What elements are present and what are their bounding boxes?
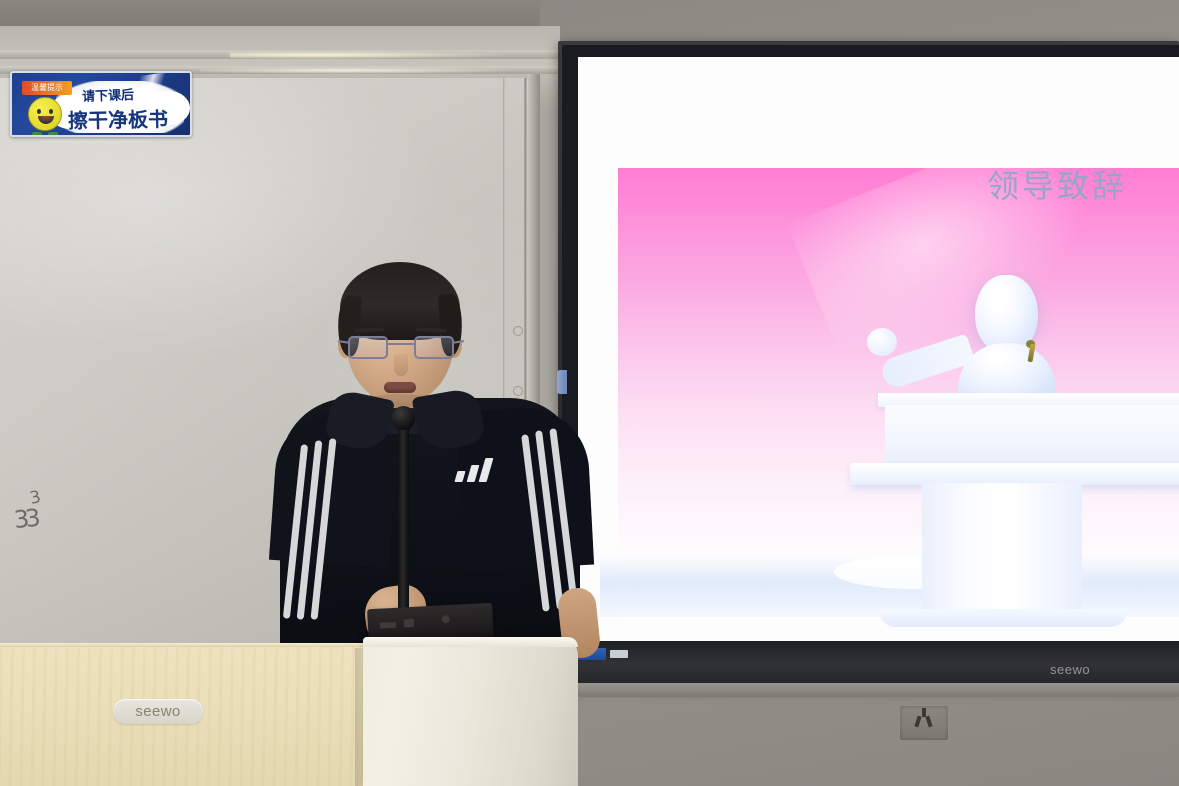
presenter — [270, 258, 590, 658]
podium-illustration-desk — [850, 463, 1179, 485]
mascot-eye-left — [37, 109, 41, 114]
podium-illustration-column — [922, 483, 1082, 621]
microphone-stand — [398, 414, 409, 614]
whiteboard-scribble-2: 33 — [13, 504, 38, 534]
slide-title: 领导致辞 — [987, 161, 1127, 207]
smartboard-base-rail — [560, 683, 1179, 697]
glasses-bridge — [388, 343, 414, 345]
power-socket — [900, 706, 948, 740]
sign-text-line1: 请下课后 — [82, 84, 135, 105]
presenter-mouth — [384, 382, 416, 393]
socket-pin-top — [922, 708, 926, 717]
lectern — [363, 637, 578, 786]
smartboard-sticker-white — [610, 650, 628, 658]
mascot-eye-right — [49, 109, 53, 114]
smartboard-brand-label: seewo — [1050, 662, 1090, 677]
socket-pin-left — [914, 716, 921, 728]
podium-illustration-face — [885, 405, 1179, 467]
smartboard-screen[interactable]: 领导致辞 — [578, 57, 1179, 641]
microphone-head-icon — [392, 406, 415, 430]
socket-pin-right — [925, 716, 932, 728]
presenter-nose — [394, 354, 408, 376]
rail-highlight-2 — [200, 67, 520, 74]
lens-right — [414, 336, 454, 359]
adidas-logo-icon — [456, 456, 498, 482]
sign-badge-label: 温馨提示 — [22, 81, 72, 95]
cabinet-brand-label: seewo — [113, 699, 203, 724]
rail-highlight — [230, 51, 510, 59]
cabinet-brand-badge: seewo — [113, 699, 203, 724]
sign-text-line2: 擦干净板书 — [68, 103, 168, 134]
smiley-mascot-icon — [28, 97, 62, 131]
cabinet-top-edge — [0, 643, 367, 647]
lectern-top-edge — [363, 637, 578, 647]
classroom-scene: 3 33 温馨提示 请下课后 擦干净板书 — [0, 0, 1179, 786]
figure-fist — [867, 328, 897, 356]
podium-illustration-base — [878, 609, 1128, 627]
classroom-reminder-sign: 温馨提示 请下课后 擦干净板书 — [10, 71, 192, 137]
mascot-legs — [32, 129, 58, 137]
sign-badge: 温馨提示 — [22, 81, 72, 95]
lens-left — [348, 336, 388, 359]
mascot-mouth — [38, 116, 54, 124]
